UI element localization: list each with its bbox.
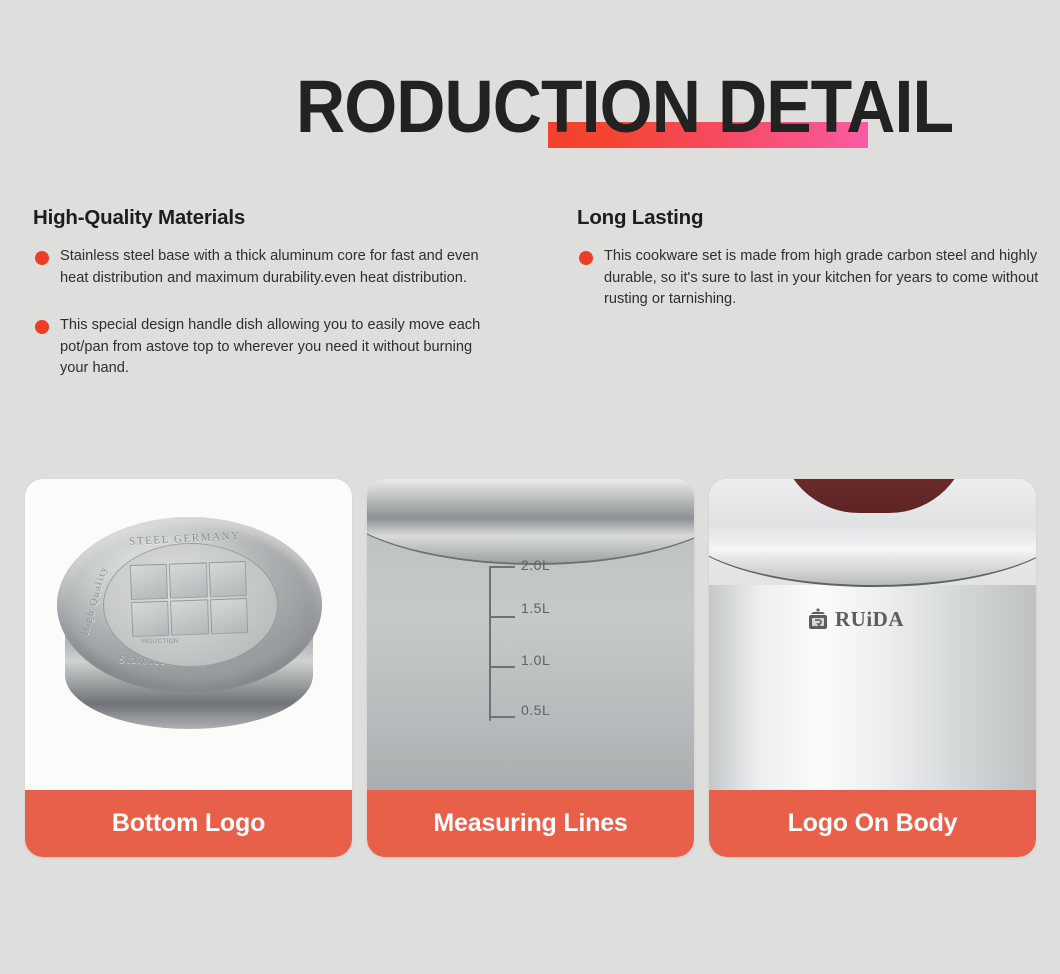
compatibility-icon [131, 601, 170, 637]
list-item: This special design handle dish allowing… [33, 315, 503, 380]
pot-bottom-illustration: STEEL GERMANY High Quality Stainless Ste… [57, 517, 322, 732]
detail-card-measuring-lines[interactable]: 2.0L 1.5L 1.0L 0.5L Measuring Lines [367, 479, 694, 857]
pot-base-disc: STEEL GERMANY High Quality Stainless Ste… [57, 517, 322, 693]
pot-bottom-photo: STEEL GERMANY High Quality Stainless Ste… [25, 479, 352, 790]
page-title: RODUCTION DETAIL [296, 70, 953, 144]
scale-tick [489, 566, 515, 568]
pot-rim [367, 479, 694, 565]
feature-column-materials: High-Quality Materials Stainless steel b… [33, 206, 503, 380]
card-caption: Bottom Logo [25, 790, 352, 857]
scale-axis-line [489, 566, 491, 721]
compatibility-icon [170, 599, 209, 635]
measuring-lines-photo: 2.0L 1.5L 1.0L 0.5L [367, 479, 694, 790]
page-header: RODUCTION DETAIL [0, 0, 1060, 180]
scale-tick [489, 666, 515, 668]
compatibility-icon [169, 562, 208, 598]
bullet-text: This cookware set is made from high grad… [604, 248, 1038, 307]
bullet-text: This special design handle dish allowing… [60, 317, 480, 376]
pot-mark-icon [805, 608, 831, 632]
feature-bullet-list: Stainless steel base with a thick alumin… [33, 246, 503, 380]
measuring-scale: 2.0L 1.5L 1.0L 0.5L [489, 561, 609, 731]
detail-card-bottom-logo[interactable]: STEEL GERMANY High Quality Stainless Ste… [25, 479, 352, 857]
scale-tick [489, 716, 515, 718]
compatibility-icon [208, 561, 247, 597]
bullet-dot-icon [579, 251, 593, 265]
card-caption: Logo On Body [709, 790, 1036, 857]
brand-logo: RUiDA [805, 607, 904, 632]
bullet-dot-icon [35, 320, 49, 334]
logo-on-body-photo: RUiDA [709, 479, 1036, 790]
list-item: Stainless steel base with a thick alumin… [33, 246, 503, 289]
engraving-center-sub: INDUCTION [141, 639, 179, 645]
compatibility-icon [130, 564, 169, 600]
scale-label: 1.0L [521, 652, 550, 668]
feature-heading: High-Quality Materials [33, 206, 503, 230]
bullet-text: Stainless steel base with a thick alumin… [60, 248, 479, 286]
scale-tick [489, 616, 515, 618]
card-caption: Measuring Lines [367, 790, 694, 857]
list-item: This cookware set is made from high grad… [577, 246, 1047, 311]
compatibility-icon [210, 598, 249, 634]
bullet-dot-icon [35, 251, 49, 265]
feature-heading: Long Lasting [577, 206, 1047, 230]
feature-bullet-list: This cookware set is made from high grad… [577, 246, 1047, 311]
feature-column-durability: Long Lasting This cookware set is made f… [577, 206, 1047, 311]
lid-handle-inset [779, 479, 969, 513]
brand-name: RUiDA [835, 607, 904, 632]
scale-label: 1.5L [521, 600, 550, 616]
detail-card-logo-on-body[interactable]: RUiDA Logo On Body [709, 479, 1036, 857]
scale-label: 2.0L [521, 557, 550, 573]
scale-label: 0.5L [521, 702, 550, 718]
compatibility-icon-grid [130, 561, 248, 637]
detail-card-row: STEEL GERMANY High Quality Stainless Ste… [0, 479, 1060, 857]
pot-lid [709, 479, 1036, 587]
